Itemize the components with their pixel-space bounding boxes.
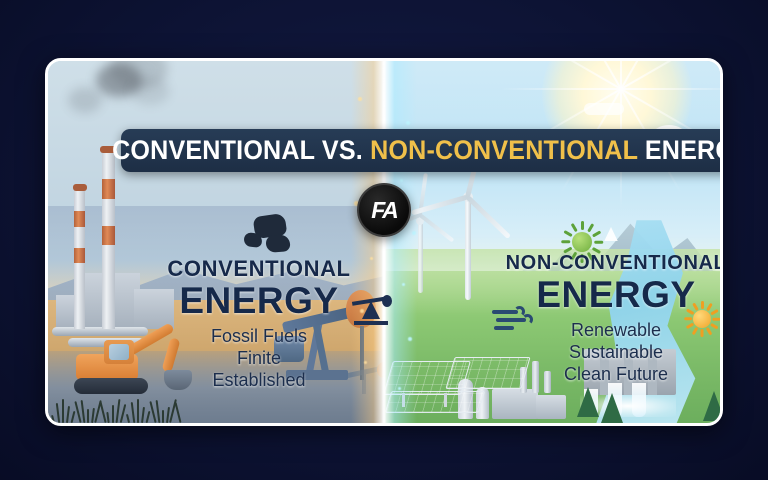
spark (398, 387, 401, 390)
left-bullets: Fossil Fuels Finite Established (144, 326, 374, 392)
cloud (584, 103, 624, 115)
sun-ray (571, 223, 578, 232)
sun-ray (592, 230, 601, 237)
smoke-plume (68, 87, 102, 113)
grass-blade (62, 399, 64, 423)
right-bullet-3: Clean Future (488, 364, 723, 386)
left-bullet-3: Established (144, 370, 374, 392)
sun-ray (621, 88, 720, 90)
right-bullet-2: Sustainable (488, 342, 723, 364)
page-title: CONVENTIONAL VS. NON-CONVENTIONAL ENERGY (112, 135, 723, 166)
title-part-1: CONVENTIONAL VS. (112, 135, 370, 165)
right-bullet-1: Renewable (488, 320, 723, 342)
non-conventional-text-block: NON-CONVENTIONAL ENERGY Renewable Sustai… (488, 253, 723, 386)
spark (402, 283, 405, 286)
right-bullets: Renewable Sustainable Clean Future (488, 320, 723, 386)
left-heading-line2: ENERGY (144, 282, 374, 319)
title-bar: CONVENTIONAL VS. NON-CONVENTIONAL ENERGY (121, 129, 723, 172)
right-heading-line2: ENERGY (488, 276, 723, 313)
spark (408, 337, 412, 341)
spark (358, 97, 362, 101)
left-bullet-2: Finite (144, 348, 374, 370)
sun-ray (594, 241, 603, 244)
right-heading-line1: NON-CONVENTIONAL (488, 253, 723, 274)
spark (400, 179, 403, 182)
left-heading-line1: CONVENTIONAL (144, 257, 374, 280)
spark (412, 231, 416, 235)
sun-ray (561, 241, 570, 244)
smokestack-icon (102, 151, 115, 329)
grass-blade (162, 410, 164, 423)
brand-logo-text: FA (371, 197, 396, 224)
conventional-text-block: CONVENTIONAL ENERGY Fossil Fuels Finite … (144, 257, 374, 392)
grass-blade (87, 409, 89, 423)
sun-ray (563, 230, 572, 237)
brand-logo-badge[interactable]: FA (357, 183, 411, 237)
grass-blade (112, 405, 114, 423)
sun-ray (501, 88, 621, 90)
smokestack-icon (74, 189, 85, 329)
smokestack-cap (73, 184, 87, 191)
grass-blade (137, 399, 139, 423)
left-bullet-1: Fossil Fuels (144, 326, 374, 348)
title-part-2: ENERGY (638, 135, 723, 165)
coal-icon (244, 213, 296, 257)
sun-ray (581, 221, 584, 230)
infographic-card: CONVENTIONAL VS. NON-CONVENTIONAL ENERGY… (45, 58, 723, 426)
title-highlight: NON-CONVENTIONAL (370, 135, 638, 165)
smoke-plume (130, 77, 170, 105)
spark (406, 121, 410, 125)
sun-ray (587, 223, 594, 232)
